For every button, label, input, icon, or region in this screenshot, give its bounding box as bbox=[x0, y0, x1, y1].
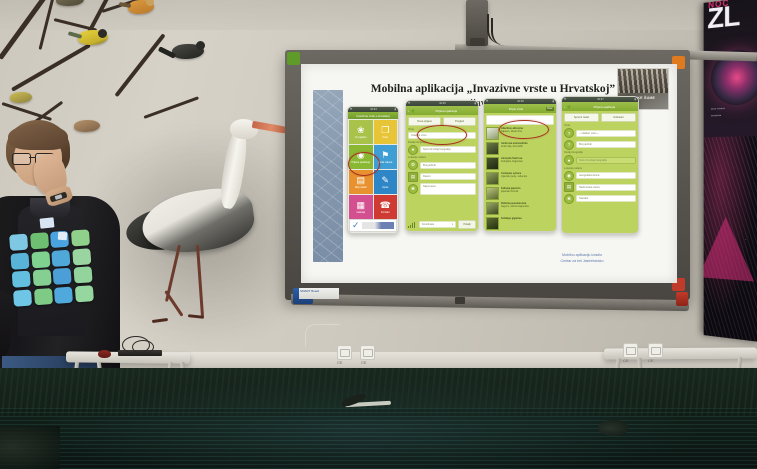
list-item[interactable]: Robinia pseudoacacia bagrem, obična bagr… bbox=[486, 202, 554, 215]
tile-label: Moji nalazi bbox=[355, 186, 367, 189]
bird-kingfisher bbox=[172, 44, 204, 59]
coordinates-select[interactable]: Koordinate ▾ bbox=[419, 221, 456, 228]
app-header: Invazivne vrste u Hrvatskoj bbox=[348, 112, 398, 119]
list-item[interactable]: Asclepias syriaca cigansko perje, svilen… bbox=[486, 172, 554, 185]
photo-row: ● Snimi ili učitaj fotografiju bbox=[564, 155, 636, 165]
habitat-field[interactable]: Stanište bbox=[576, 195, 636, 202]
form-row: ◉ Geografska širina bbox=[564, 171, 636, 181]
note-field[interactable]: Napomena bbox=[420, 183, 476, 195]
species-text: Ambrosia artemisiifolia ambrozija, limun… bbox=[501, 142, 527, 149]
form-body: Spremi nalaz Odustani Vrsta ? -- odaberi… bbox=[562, 111, 638, 233]
glasses-left-lens-icon bbox=[12, 153, 31, 165]
latitude-field[interactable]: Geografska širina bbox=[576, 172, 636, 179]
outlet-label: CE bbox=[623, 358, 629, 363]
slide-credit: Mobilnu aplikaciju izradio Centar za krš… bbox=[507, 252, 657, 264]
tray-knob[interactable] bbox=[455, 297, 465, 304]
slide-title-line1: Mobilna aplikacija „Invazivne vrste u Hr… bbox=[343, 82, 643, 97]
back-arrow-icon[interactable]: ‹ bbox=[408, 109, 409, 113]
check-icon: ✓ bbox=[352, 221, 360, 230]
slide-left-decorative-strip bbox=[313, 90, 343, 262]
status-time: 10:27 bbox=[597, 98, 604, 101]
submit-button[interactable]: Pošalji bbox=[458, 220, 476, 229]
select-value: Koordinate bbox=[422, 223, 434, 226]
species-desc: bagrem, obična bagrenika bbox=[501, 205, 529, 208]
app-logo-icon: 🌿 bbox=[567, 105, 571, 109]
mural-swimming-bird bbox=[598, 420, 628, 436]
status-left: ☰ bbox=[408, 102, 410, 105]
species-desc: japanski dvornik bbox=[501, 190, 518, 193]
species-select-field[interactable]: -- odaberi vrstu -- bbox=[576, 130, 636, 137]
bird-great-tit bbox=[78, 30, 108, 45]
list-icon: ▤ bbox=[356, 176, 365, 185]
altitude-field[interactable]: Nadmorska visina bbox=[576, 184, 636, 191]
outlet-label: CE bbox=[361, 360, 367, 365]
header-title: Popis vrsta bbox=[486, 107, 546, 111]
red-marker[interactable] bbox=[676, 292, 688, 306]
list-item[interactable]: Amorpha fruticosa čivitnjača, bagremac bbox=[486, 157, 554, 170]
tshirt-icon-print bbox=[9, 229, 95, 320]
camera-icon[interactable]: ● bbox=[408, 145, 418, 155]
board-corner-green-icon bbox=[287, 52, 300, 65]
date-field[interactable]: Datum bbox=[420, 173, 476, 180]
desk-cable-loop-2 bbox=[132, 340, 154, 354]
credit-line-2: Centar za krš Jastrebarsko bbox=[507, 258, 657, 264]
back-arrow-icon[interactable]: ‹ bbox=[564, 105, 565, 109]
status-time: 10:25 bbox=[439, 102, 446, 105]
app-header: ‹ 🌿 Prijava opažanja bbox=[562, 102, 638, 111]
power-outlet bbox=[337, 345, 352, 360]
app-header: ‹ 🌿 Prijava opažanja bbox=[406, 106, 478, 115]
status-time: 10:26 bbox=[517, 100, 524, 103]
species-name: Solidago gigantea bbox=[501, 217, 522, 220]
annotation-ellipse-list-entry bbox=[499, 120, 549, 139]
list-item[interactable]: Fallopia japonica japanski dvornik bbox=[486, 187, 554, 200]
tile-label: Galerija bbox=[356, 211, 365, 214]
count-field[interactable]: Broj jedinki bbox=[576, 141, 636, 148]
phone-mockup-species-list: ☰ 10:26 ▮ Popis vrsta Filtar Ailanthus a… bbox=[483, 98, 557, 232]
species-text: Fallopia japonica japanski dvornik bbox=[501, 187, 520, 194]
form-row: ? -- odaberi vrstu -- bbox=[564, 128, 636, 138]
form-footer: Koordinate ▾ Pošalji bbox=[408, 220, 476, 229]
tile-label: Upute bbox=[382, 186, 389, 189]
board-brand-tag: SMART Board bbox=[299, 288, 339, 299]
tile-label: Vrste bbox=[382, 136, 388, 139]
species-thumbnail bbox=[486, 187, 499, 200]
status-left: ☰ bbox=[350, 108, 352, 111]
app-footer-logos: ✓ bbox=[349, 219, 397, 232]
eu-logo bbox=[362, 222, 394, 229]
bird-robin bbox=[128, 0, 154, 14]
status-left: ☰ bbox=[564, 98, 566, 101]
power-outlet bbox=[360, 345, 375, 360]
tile-galerija[interactable]: ▦ Galerija bbox=[349, 195, 373, 219]
power-outlet bbox=[648, 343, 663, 358]
presenter bbox=[0, 120, 130, 372]
room-scene: NOĆ ZL ▪▪▪▪ ▪▪▪▪▪▪▪▪▪▪▪▪▪▪ Mobilna aplik… bbox=[0, 0, 757, 469]
calendar-icon[interactable]: ▤ bbox=[408, 172, 418, 182]
form-row: ❀ Stanište bbox=[564, 194, 636, 204]
poster-title: ZL bbox=[707, 2, 739, 32]
leaf-icon: ❐ bbox=[381, 126, 389, 135]
status-right: ▮ bbox=[475, 102, 476, 105]
flower-icon: ❀ bbox=[357, 126, 365, 135]
photo-field[interactable]: Snimi ili učitaj fotografiju bbox=[420, 146, 476, 153]
species-thumbnail bbox=[486, 142, 499, 155]
logo-photo bbox=[618, 69, 668, 93]
species-thumbnail bbox=[486, 172, 499, 185]
header-title: Prijava opažanja bbox=[573, 105, 636, 109]
tile-label: Kontakt bbox=[381, 211, 389, 214]
presentation-slide: Mobilna aplikacija „Invazivne vrste u Hr… bbox=[301, 64, 677, 283]
tile-vrste[interactable]: ❐ Vrste bbox=[374, 120, 398, 144]
bird-top-left bbox=[56, 0, 84, 6]
altitude-icon[interactable]: ▤ bbox=[564, 182, 574, 192]
computer-mouse[interactable] bbox=[98, 350, 111, 358]
location-pin-icon[interactable]: ◉ bbox=[564, 171, 574, 181]
label-species: Vrsta bbox=[564, 124, 636, 127]
bird-finch bbox=[10, 92, 32, 103]
label-photo: Dodaj fotografiju bbox=[564, 151, 636, 154]
gear-icon[interactable]: ⚙ bbox=[408, 160, 418, 170]
phone-screen: ‹ 🌿 Prijava opažanja Spremi nalaz Odusta… bbox=[562, 102, 638, 233]
label-location: Lokacija nalaza bbox=[564, 167, 636, 170]
species-thumbnail bbox=[486, 127, 499, 140]
form-row: ? Broj jedinki bbox=[564, 140, 636, 150]
cancel-button[interactable]: Odustani bbox=[601, 113, 636, 122]
species-desc: ambrozija, limundžik bbox=[501, 145, 523, 148]
app-logo-icon: 🌿 bbox=[411, 109, 415, 113]
mural-flying-bird bbox=[335, 396, 405, 412]
glasses-bridge bbox=[29, 157, 36, 158]
count-field[interactable]: Broj jedinki bbox=[420, 162, 476, 169]
poster-triangle-accent bbox=[704, 216, 755, 282]
status-right: ▮ bbox=[553, 100, 554, 103]
tile-upute[interactable]: ✎ Upute bbox=[374, 170, 398, 194]
status-time: 10:24 bbox=[370, 108, 377, 111]
form-row: ▤ Nadmorska visina bbox=[564, 182, 636, 192]
species-thumbnail bbox=[486, 157, 499, 170]
tile-label: O projektu bbox=[355, 136, 367, 139]
form-row: ⚙ Broj jedinki bbox=[408, 160, 476, 170]
signal-icon bbox=[408, 221, 417, 228]
chevron-down-icon: ▾ bbox=[452, 223, 453, 226]
annotation-ellipse-tile bbox=[348, 152, 380, 176]
help-icon[interactable]: ? bbox=[564, 128, 574, 138]
poster-small-text: ▪▪▪▪ ▪▪▪▪▪▪▪▪▪▪▪▪▪▪ bbox=[711, 104, 756, 119]
species-text: Amorpha fruticosa čivitnjača, bagremac bbox=[501, 157, 523, 164]
phone-icon: ☎ bbox=[380, 201, 391, 210]
habitat-icon[interactable]: ❀ bbox=[564, 194, 574, 204]
form-button-row: Spremi nalaz Odustani bbox=[564, 113, 636, 122]
phone-mockup-report-form: ☰ 10:25 ▮ ‹ 🌿 Prijava opažanja Nova prij… bbox=[405, 100, 479, 232]
tile-kontakt[interactable]: ☎ Kontakt bbox=[374, 195, 398, 219]
app-header: Popis vrsta Filtar bbox=[484, 104, 556, 113]
form-row: ▤ Datum bbox=[408, 172, 476, 182]
species-thumbnail bbox=[486, 202, 499, 215]
photo-row: ● Snimi ili učitaj fotografiju bbox=[408, 145, 476, 155]
camera-icon[interactable]: ● bbox=[564, 155, 574, 165]
mount-plate bbox=[470, 38, 485, 46]
map-pin-icon: ⚑ bbox=[381, 151, 389, 160]
power-outlet bbox=[623, 343, 638, 358]
outlet-label: CE bbox=[337, 360, 343, 365]
form-row: ❀ Napomena bbox=[408, 183, 476, 195]
mural-dark-area bbox=[0, 426, 60, 469]
wall-wire bbox=[305, 324, 340, 347]
status-right: ▮ bbox=[395, 108, 396, 111]
list-item[interactable]: Solidago gigantea bbox=[486, 217, 554, 230]
note-icon[interactable]: ❀ bbox=[408, 184, 418, 194]
presenter-name-badge bbox=[40, 217, 55, 228]
annotation-ellipse-species-field bbox=[417, 125, 467, 145]
label-location: Lokacija nalaza bbox=[408, 156, 476, 159]
photo-field[interactable]: Snimi ili učitaj fotografiju bbox=[576, 157, 636, 164]
species-text: Asclepias syriaca cigansko perje, svilen… bbox=[501, 172, 527, 179]
phone-mockup-detail-form: ☰ 10:27 ▮ ‹ 🌿 Prijava opažanja Spremi na… bbox=[561, 96, 639, 234]
species-text: Solidago gigantea bbox=[501, 217, 522, 220]
species-text: Robinia pseudoacacia bagrem, obična bagr… bbox=[501, 202, 529, 209]
header-title: Prijava opažanja bbox=[417, 109, 476, 113]
species-desc: čivitnjača, bagremac bbox=[501, 160, 523, 163]
presenter-pin bbox=[58, 232, 68, 241]
list-item[interactable]: Ambrosia artemisiifolia ambrozija, limun… bbox=[486, 142, 554, 155]
status-right: ▮ bbox=[635, 98, 636, 101]
status-left: ☰ bbox=[486, 100, 488, 103]
tile-o-projektu[interactable]: ❀ O projektu bbox=[349, 120, 373, 144]
wetland-mural bbox=[0, 368, 757, 469]
grid-icon: ▦ bbox=[356, 201, 365, 210]
help-icon[interactable]: ? bbox=[564, 140, 574, 150]
white-stork-taxidermy bbox=[120, 95, 305, 350]
save-button[interactable]: Spremi nalaz bbox=[564, 113, 599, 122]
species-thumbnail bbox=[486, 217, 499, 230]
filter-badge[interactable]: Filtar bbox=[546, 107, 554, 111]
species-desc: cigansko perje, svilenica bbox=[501, 175, 527, 178]
presenter-fringe bbox=[8, 124, 68, 150]
pencil-icon: ✎ bbox=[381, 176, 389, 185]
tile-label: Karta nalaza bbox=[378, 161, 392, 164]
outlet-label: CE bbox=[648, 358, 654, 363]
mural-water bbox=[0, 408, 757, 469]
